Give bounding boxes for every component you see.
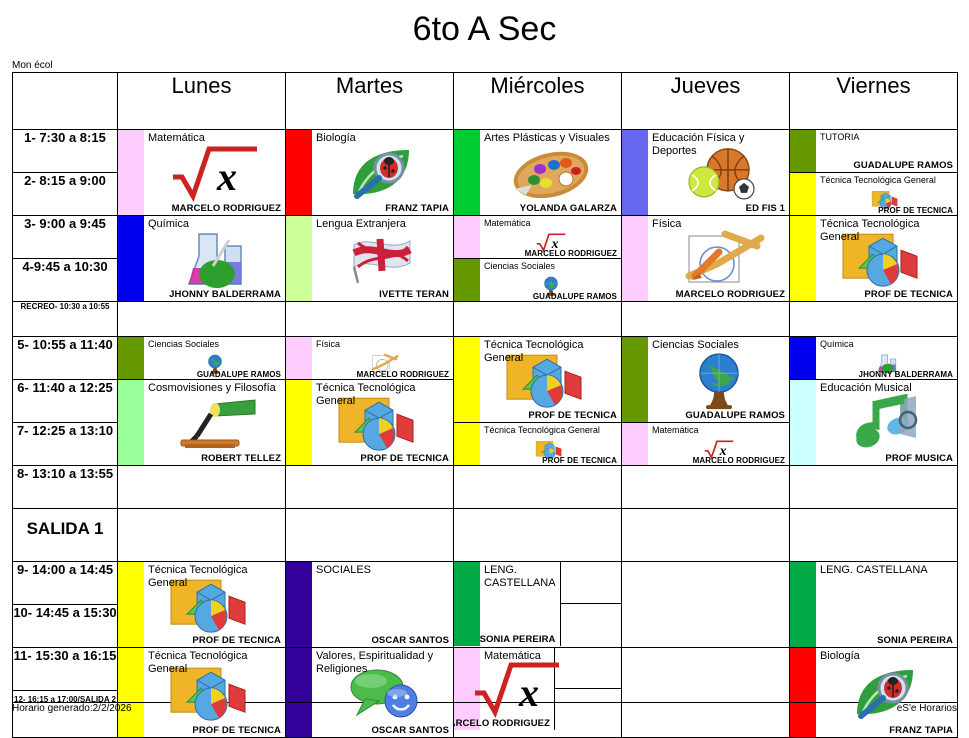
time-label-7: 7- 12:25 a 13:10: [13, 423, 118, 466]
cell-lunes-p3[interactable]: Química JHONNY BALDERRAMA: [118, 216, 286, 302]
color-swatch: [118, 216, 144, 301]
teacher-name: OSCAR SANTOS: [371, 635, 449, 646]
cell-miercoles-p9[interactable]: LENG. CASTELLANA SONIA PEREIRA: [454, 562, 560, 646]
subject-name: Lengua Extranjera: [316, 218, 449, 231]
time-label-8: 8- 13:10 a 13:55: [13, 466, 118, 509]
color-swatch: [454, 216, 480, 258]
sqrt-x-icon: x: [169, 144, 261, 207]
period-row-9: 9- 14:00 a 14:45 Técnica Tecnológica Gen…: [13, 562, 958, 605]
break-cell-martes: [286, 302, 454, 337]
teacher-name: PROF MUSICA: [885, 453, 953, 464]
subject-name: Ciencias Sociales: [484, 261, 617, 271]
cell-jueves-p8[interactable]: [622, 466, 790, 509]
day-header-martes: Martes: [286, 73, 454, 130]
cell-jueves-p7[interactable]: Matemática x MARCELO RODRIGUEZ: [622, 423, 790, 466]
color-swatch: [118, 648, 144, 737]
dismissal-row: SALIDA 1: [13, 509, 958, 562]
uk-flag-icon: [340, 230, 426, 291]
cell-miercoles-p1[interactable]: Artes Plásticas y Visuales YOLANDA GALAR…: [454, 130, 622, 216]
time-label-salida1: SALIDA 1: [13, 509, 118, 562]
teacher-name: IVETTE TERAN: [379, 289, 449, 300]
day-header-lunes: Lunes: [118, 73, 286, 130]
day-header-viernes: Viernes: [790, 73, 958, 130]
cell-miercoles-p5[interactable]: Técnica Tecnológica General PROF DE TECN…: [454, 337, 622, 423]
teacher-name: MARCELO RODRIGUEZ: [676, 289, 785, 300]
cell-viernes-p3[interactable]: Técnica Tecnológica General PROF DE TECN…: [790, 216, 958, 302]
color-swatch: [286, 130, 312, 215]
split-subcells: Matemática x MARCELO RODRIGUEZ: [454, 216, 621, 301]
teacher-name: OSCAR SANTOS: [371, 725, 449, 736]
subject-name: Física: [316, 339, 449, 349]
cell-jueves-p9[interactable]: [622, 562, 790, 648]
teacher-name: ED FIS 1: [746, 203, 785, 214]
compass-icon: [673, 230, 765, 293]
cell-martes-p3[interactable]: Lengua Extranjera IVETTE TERAN: [286, 216, 454, 302]
color-swatch: [790, 216, 816, 301]
cell-lunes-p11[interactable]: Técnica Tecnológica General PROF DE TECN…: [118, 648, 286, 738]
cell-viernes-p8[interactable]: [790, 466, 958, 509]
subject-name: Matemática: [484, 218, 617, 228]
color-swatch: [790, 648, 816, 737]
color-swatch: [118, 562, 144, 647]
cell-viernes-p9[interactable]: LENG. CASTELLANA SONIA PEREIRA: [790, 562, 958, 648]
teacher-name: JHONNY BALDERRAMA: [859, 370, 953, 379]
empty-subcell[interactable]: [561, 562, 621, 604]
color-swatch: [622, 423, 648, 465]
time-label-2: 2- 8:15 a 9:00: [13, 173, 118, 216]
cell-jueves-p1[interactable]: Educación Física y Deportes ED FIS 1: [622, 130, 790, 216]
cell-viernes-p6[interactable]: Educación Musical PROF MUSICA: [790, 380, 958, 466]
time-label-5: 5- 10:55 a 11:40: [13, 337, 118, 380]
cell-lunes-p8[interactable]: [118, 466, 286, 509]
dismissal-cell-jueves: [622, 509, 790, 562]
period-row-1: 1- 7:30 a 8:15 Matemática x MARCELO RODR…: [13, 130, 958, 173]
cell-lunes-p9[interactable]: Técnica Tecnológica General PROF DE TECN…: [118, 562, 286, 648]
period-row-3: 3- 9:00 a 9:45 Química JHONNY BALDERRAMA: [13, 216, 958, 259]
color-swatch: [790, 173, 816, 215]
color-swatch: [118, 337, 144, 379]
cell-miercoles-p8[interactable]: [454, 466, 622, 509]
teacher-name: MARCELO RODRIGUEZ: [525, 249, 617, 258]
subject-name: Matemática: [484, 650, 550, 663]
timetable-page: 6to A Sec Mon écol Lunes Martes Miércole…: [0, 0, 969, 715]
leaf-bug-icon: [847, 664, 927, 727]
flask-icon: [173, 230, 257, 293]
cell-lunes-p6[interactable]: Cosmovisiones y Filosofía ROBERT TELLEZ: [118, 380, 286, 466]
period-row-8: 8- 13:10 a 13:55: [13, 466, 958, 509]
cell-lunes-p5[interactable]: Ciencias Sociales GUADALUPE RAMOS: [118, 337, 286, 380]
subject-name: Valores, Espiritualidad y Religiones: [316, 650, 449, 675]
cell-miercoles-p7[interactable]: Técnica Tecnológica General PROF DE TECN…: [454, 423, 622, 466]
cell-jueves-p5[interactable]: Ciencias Sociales GUADALUPE RAMOS: [622, 337, 790, 423]
color-swatch: [286, 380, 312, 465]
teacher-name: PROF DE TECNICA: [192, 635, 281, 646]
day-header-miercoles: Miércoles: [454, 73, 622, 130]
subject-name: Matemática: [652, 425, 785, 435]
teacher-name: MARCELO RODRIGUEZ: [454, 718, 551, 729]
cell-martes-p8[interactable]: [286, 466, 454, 509]
color-swatch: [286, 337, 312, 379]
cell-viernes-p2[interactable]: Técnica Tecnológica General PROF DE TECN…: [790, 173, 958, 216]
subject-name: Técnica Tecnológica General: [148, 650, 281, 675]
corner-cell: [13, 73, 118, 130]
color-swatch: [790, 380, 816, 465]
lamp-icon: [167, 394, 263, 457]
teacher-name: GUADALUPE RAMOS: [197, 370, 281, 379]
time-label-1: 1- 7:30 a 8:15: [13, 130, 118, 173]
color-swatch: [790, 337, 816, 379]
time-label-4: 4-9:45 a 10:30: [13, 259, 118, 302]
color-swatch: [454, 259, 480, 301]
teacher-name: FRANZ TAPIA: [385, 203, 449, 214]
day-header-row: Lunes Martes Miércoles Jueves Viernes: [13, 73, 958, 130]
subject-name: Técnica Tecnológica General: [484, 339, 617, 364]
color-swatch: [454, 337, 480, 422]
break-cell-jueves: [622, 302, 790, 337]
teacher-name: GUADALUPE RAMOS: [533, 292, 617, 301]
empty-subcell[interactable]: [561, 604, 621, 646]
footer-generated: Horario generado:2/2/2026: [12, 703, 132, 715]
cell-viernes-p5[interactable]: Química JHONNY BALDERRAMA: [790, 337, 958, 380]
color-swatch: [286, 562, 312, 647]
break-row: RECREO- 10:30 a 10:55: [13, 302, 958, 337]
subject-name: Técnica Tecnológica General: [148, 564, 281, 589]
color-swatch: [454, 423, 480, 465]
cell-martes-p1[interactable]: Biología FRANZ TAPIA: [286, 130, 454, 216]
empty-subcells-miercoles-p11: [554, 648, 621, 730]
cell-miercoles-p3-split: Matemática x MARCELO RODRIGUEZ: [454, 216, 622, 302]
subject-name: Física: [652, 218, 785, 231]
subject-name: Biología: [316, 132, 449, 145]
subject-name: Ciencias Sociales: [148, 339, 281, 349]
dismissal-cell-viernes: [790, 509, 958, 562]
empty-subcell[interactable]: [555, 648, 621, 689]
subject-name: Técnica Tecnológica General: [316, 382, 449, 407]
teacher-name: JHONNY BALDERRAMA: [169, 289, 281, 300]
teacher-name: PROF DE TECNICA: [528, 410, 617, 421]
dismissal-cell-lunes: [118, 509, 286, 562]
cell-martes-p9[interactable]: SOCIALES OSCAR SANTOS: [286, 562, 454, 648]
page-title: 6to A Sec: [0, 8, 969, 50]
subject-name: Cosmovisiones y Filosofía: [148, 382, 281, 395]
time-label-9: 9- 14:00 a 14:45: [13, 562, 118, 605]
cell-jueves-p11[interactable]: [622, 648, 790, 738]
footer-brand: eS'e Horarios: [897, 703, 957, 715]
color-swatch: [622, 130, 648, 215]
teacher-name: PROF DE TECNICA: [864, 289, 953, 300]
subject-name: Biología: [820, 650, 953, 663]
subject-name: Técnica Tecnológica General: [820, 175, 953, 185]
cell-martes-p11[interactable]: Valores, Espiritualidad y Religiones OSC…: [286, 648, 454, 738]
teacher-name: GUADALUPE RAMOS: [853, 160, 953, 171]
dismissal-cell-miercoles: [454, 509, 622, 562]
subject-name: Química: [148, 218, 281, 231]
color-swatch: [790, 130, 816, 172]
color-swatch: [118, 380, 144, 465]
svg-text:x: x: [216, 154, 237, 199]
color-swatch: [622, 216, 648, 301]
footer: Horario generado:2/2/2026 eS'e Horarios: [12, 702, 957, 715]
cell-miercoles-p4[interactable]: Ciencias Sociales GUADALUPE RAMOS: [454, 259, 621, 302]
teacher-name: PROF DE TECNICA: [542, 456, 617, 465]
cell-miercoles-p9-wrap: LENG. CASTELLANA SONIA PEREIRA: [454, 562, 622, 648]
period-row-5: 5- 10:55 a 11:40 Ciencias Sociales GUADA…: [13, 337, 958, 380]
cell-viernes-p11[interactable]: Biología FRANZ TAPIA: [790, 648, 958, 738]
subject-name: Matemática: [148, 132, 281, 145]
teacher-name: MARCELO RODRIGUEZ: [693, 456, 785, 465]
subject-name: TUTORIA: [820, 132, 953, 142]
break-cell-lunes: [118, 302, 286, 337]
time-label-3: 3- 9:00 a 9:45: [13, 216, 118, 259]
cell-martes-p5[interactable]: Física MARCELO RODRIGUEZ: [286, 337, 454, 380]
music-icon: [842, 394, 932, 457]
teacher-name: ROBERT TELLEZ: [201, 453, 281, 464]
cell-viernes-p1[interactable]: TUTORIA GUADALUPE RAMOS: [790, 130, 958, 173]
cell-miercoles-p3[interactable]: Matemática x MARCELO RODRIGUEZ: [454, 216, 621, 259]
teacher-name: PROF DE TECNICA: [878, 206, 953, 215]
teacher-name: GUADALUPE RAMOS: [685, 410, 785, 421]
color-swatch: [622, 337, 648, 422]
teacher-name: MARCELO RODRIGUEZ: [357, 370, 449, 379]
subject-name: LENG. CASTELLANA: [820, 564, 953, 577]
teacher-name: SONIA PEREIRA: [877, 635, 953, 646]
school-name: Mon écol: [12, 60, 53, 72]
break-cell-viernes: [790, 302, 958, 337]
empty-subcells-miercoles-p9: [560, 562, 621, 646]
teacher-name: SONIA PEREIRA: [480, 634, 556, 645]
time-label-recreo: RECREO- 10:30 a 10:55: [13, 302, 118, 337]
color-swatch: [286, 216, 312, 301]
leaf-bug-icon: [343, 144, 423, 207]
palette-icon: [506, 144, 596, 205]
subject-name: Ciencias Sociales: [652, 339, 785, 352]
cell-miercoles-p11[interactable]: Matemática x MARCELO RODRIGUEZ: [454, 648, 554, 730]
teacher-name: PROF DE TECNICA: [192, 725, 281, 736]
timetable-grid: Lunes Martes Miércoles Jueves Viernes 1-…: [12, 72, 958, 738]
subject-name: SOCIALES: [316, 564, 449, 577]
color-swatch: [118, 130, 144, 215]
subject-name: Técnica Tecnológica General: [820, 218, 953, 243]
cell-martes-p6[interactable]: Técnica Tecnológica General PROF DE TECN…: [286, 380, 454, 466]
teacher-name: YOLANDA GALARZA: [520, 203, 617, 214]
color-swatch: [454, 130, 480, 215]
dismissal-cell-martes: [286, 509, 454, 562]
time-label-11: 11- 15:30 a 16:15: [13, 648, 118, 691]
color-swatch: [286, 648, 312, 737]
teacher-name: FRANZ TAPIA: [889, 725, 953, 736]
period-row-11: 11- 15:30 a 16:15 Técnica Tecnológica Ge…: [13, 648, 958, 691]
color-swatch: [454, 562, 480, 646]
break-cell-miercoles: [454, 302, 622, 337]
subject-name: Técnica Tecnológica General: [484, 425, 617, 435]
subject-name: Educación Física y Deportes: [652, 132, 785, 157]
time-label-10: 10- 14:45 a 15:30: [13, 605, 118, 648]
subject-name: LENG. CASTELLANA: [484, 564, 556, 589]
cell-miercoles-p11-wrap: Matemática x MARCELO RODRIGUEZ: [454, 648, 622, 738]
globe-icon: [684, 349, 754, 416]
color-swatch: [790, 562, 816, 647]
subject-name: Química: [820, 339, 953, 349]
cell-jueves-p3[interactable]: Física MARCELO RODRIGUEZ: [622, 216, 790, 302]
teacher-name: PROF DE TECNICA: [360, 453, 449, 464]
cell-lunes-p1[interactable]: Matemática x MARCELO RODRIGUEZ: [118, 130, 286, 216]
time-label-6: 6- 11:40 a 12:25: [13, 380, 118, 423]
day-header-jueves: Jueves: [622, 73, 790, 130]
teacher-name: MARCELO RODRIGUEZ: [172, 203, 281, 214]
subject-name: Educación Musical: [820, 382, 953, 395]
subject-name: Artes Plásticas y Visuales: [484, 132, 617, 145]
